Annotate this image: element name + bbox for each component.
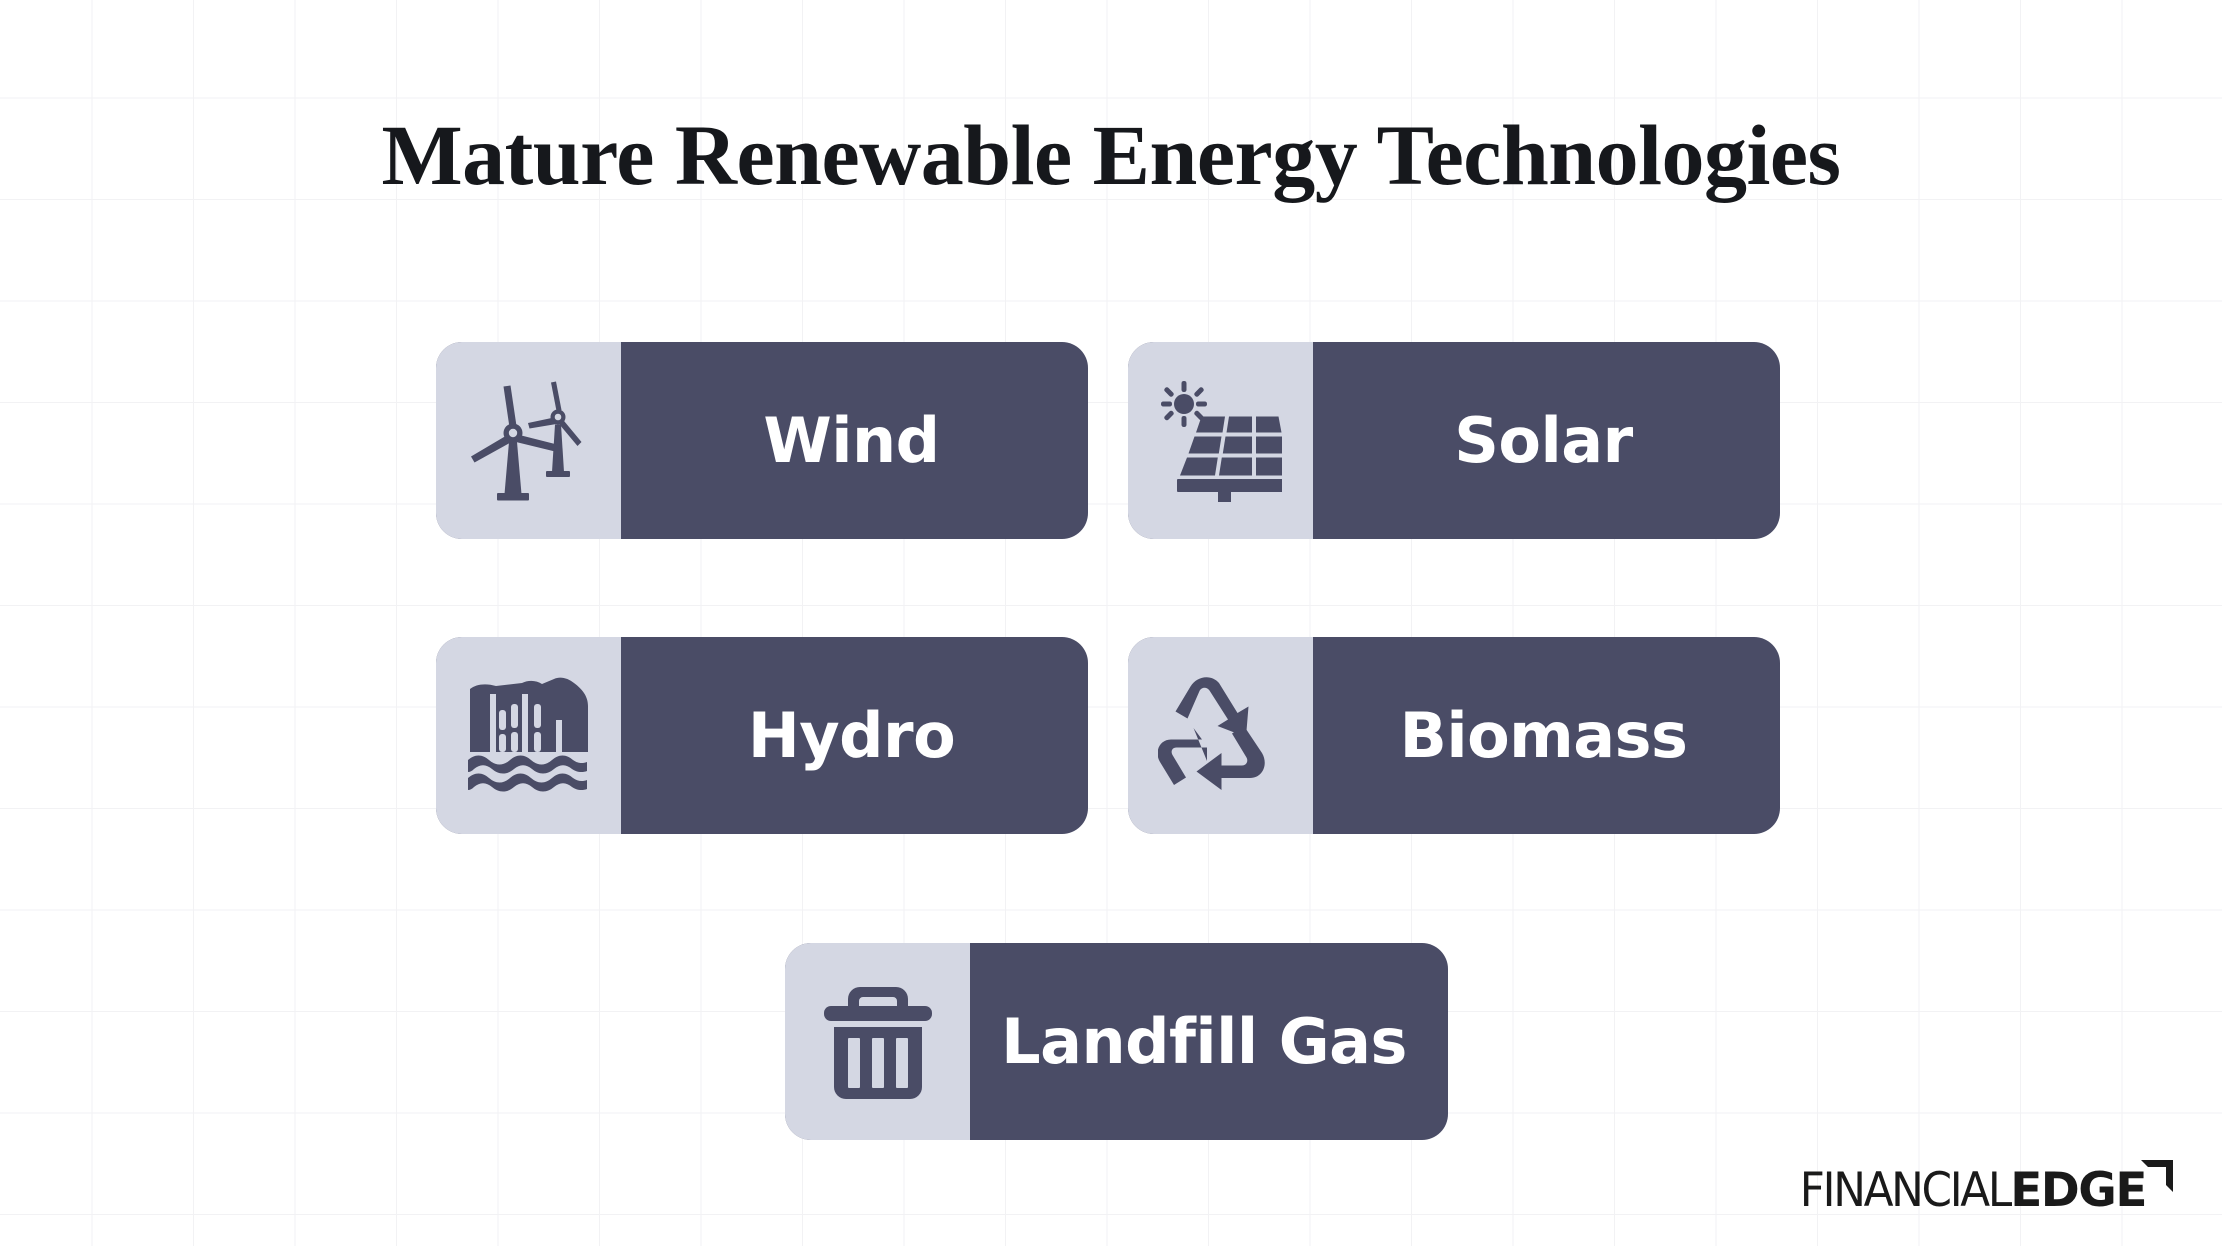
hydro-dam-icon xyxy=(466,674,592,798)
logo-financial-text: FINANCIAL xyxy=(1800,1167,2010,1214)
card-solar-icon-panel xyxy=(1128,342,1313,539)
financial-edge-logo: FINANCIAL EDGE xyxy=(1784,1152,2174,1214)
card-hydro[interactable]: Hydro xyxy=(436,637,1088,834)
card-biomass-label: Biomass xyxy=(1313,637,1780,834)
card-solar-label: Solar xyxy=(1313,342,1780,539)
card-landfill-gas-icon-panel xyxy=(785,943,970,1140)
solar-panel-icon xyxy=(1160,380,1282,502)
logo-wordmark: FINANCIAL EDGE xyxy=(1784,1167,2146,1214)
slide-canvas: Mature Renewable Energy Technologies xyxy=(0,0,2222,1246)
card-wind[interactable]: Wind xyxy=(436,342,1088,539)
wind-turbine-icon xyxy=(469,380,589,502)
trash-bin-icon xyxy=(822,981,934,1103)
card-landfill-gas[interactable]: Landfill Gas xyxy=(785,943,1448,1140)
card-biomass[interactable]: Biomass xyxy=(1128,637,1780,834)
card-hydro-icon-panel xyxy=(436,637,621,834)
card-solar[interactable]: Solar xyxy=(1128,342,1780,539)
card-landfill-gas-label: Landfill Gas xyxy=(970,943,1448,1140)
page-title: Mature Renewable Energy Technologies xyxy=(0,105,2222,205)
logo-edge-text: EDGE xyxy=(2010,1167,2146,1214)
card-wind-label: Wind xyxy=(621,342,1088,539)
card-biomass-icon-panel xyxy=(1128,637,1313,834)
corner-bracket-icon xyxy=(2140,1159,2174,1198)
recycle-icon xyxy=(1158,675,1284,797)
card-wind-icon-panel xyxy=(436,342,621,539)
card-hydro-label: Hydro xyxy=(621,637,1088,834)
